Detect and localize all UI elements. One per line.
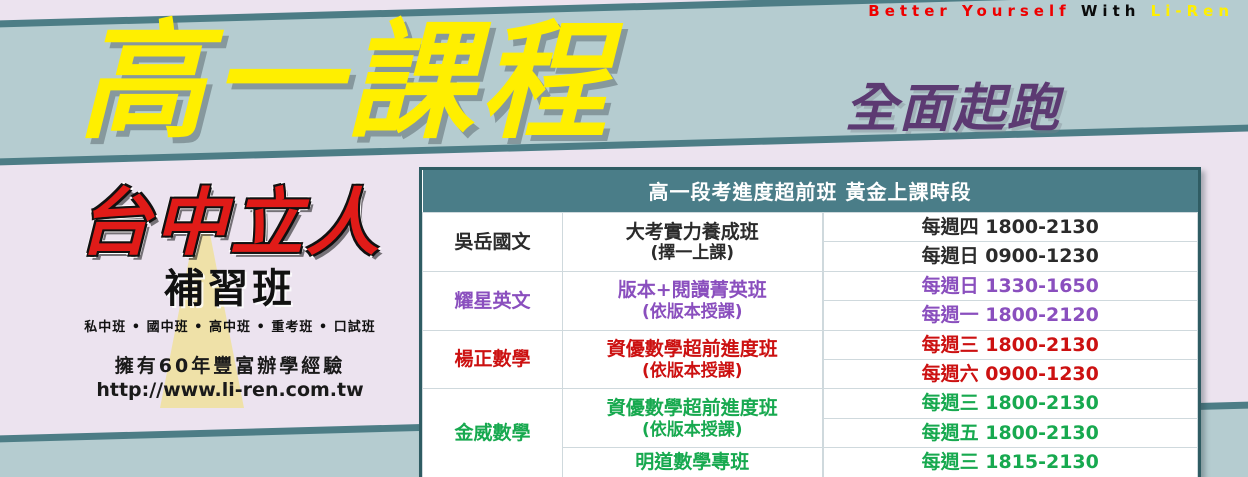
tagline-part-1: Better Yourself <box>868 2 1070 20</box>
table-row: 耀星英文版本+閱讀菁英班(依版本授課)每週日 1330-1650 <box>423 271 1198 300</box>
logo-name: 台中立人 <box>55 185 405 262</box>
course-cell: 大考實力養成班(擇一上課) <box>563 213 823 272</box>
time-cell: 每週日 1330-1650 <box>823 271 1198 300</box>
time-cell: 每週三 1815-2130 <box>823 448 1198 477</box>
logo-class-list: 私中班 • 國中班 • 高中班 • 重考班 • 口試班 <box>55 316 405 335</box>
poster-canvas: Better Yourself With Li-Ren 高一課程 全面起跑 台中… <box>0 0 1248 477</box>
tagline-part-2: With <box>1081 2 1141 20</box>
schedule-header: 高一段考進度超前班 黃金上課時段 <box>423 170 1198 213</box>
time-cell: 每週五 1800-2130 <box>823 418 1198 447</box>
course-cell-secondary: 明道數學專班 <box>563 448 823 477</box>
course-note: (依版本授課) <box>567 420 818 440</box>
course-cell: 資優數學超前進度班(依版本授課) <box>563 330 823 389</box>
logo-website-url[interactable]: http://www.li-ren.com.tw <box>55 379 405 401</box>
schedule-table-wrapper: 高一段考進度超前班 黃金上課時段 吳岳國文大考實力養成班(擇一上課)每週四 18… <box>419 167 1201 477</box>
page-title: 高一課程 <box>78 18 614 146</box>
course-cell: 版本+閱讀菁英班(依版本授課) <box>563 271 823 330</box>
time-cell: 每週三 1800-2130 <box>823 389 1198 418</box>
table-row: 金威數學資優數學超前進度班(依版本授課)每週三 1800-2130 <box>423 389 1198 418</box>
course-note: (依版本授課) <box>567 361 818 381</box>
teacher-cell: 耀星英文 <box>423 271 563 330</box>
time-cell: 每週一 1800-2120 <box>823 301 1198 330</box>
course-cell: 資優數學超前進度班(依版本授課) <box>563 389 823 448</box>
page-subtitle: 全面起跑 <box>845 66 1061 141</box>
time-cell: 每週三 1800-2130 <box>823 330 1198 359</box>
schedule-table: 高一段考進度超前班 黃金上課時段 吳岳國文大考實力養成班(擇一上課)每週四 18… <box>422 170 1198 477</box>
schedule-body: 吳岳國文大考實力養成班(擇一上課)每週四 1800-2130每週日 0900-1… <box>423 213 1198 477</box>
course-note: (依版本授課) <box>567 302 818 322</box>
logo-experience: 擁有60年豐富辦學經驗 <box>55 351 405 378</box>
teacher-cell: 楊正數學 <box>423 330 563 389</box>
teacher-cell: 金威數學 <box>423 389 563 477</box>
table-row: 楊正數學資優數學超前進度班(依版本授課)每週三 1800-2130 <box>423 330 1198 359</box>
teacher-cell: 吳岳國文 <box>423 213 563 272</box>
time-cell: 每週六 0900-1230 <box>823 360 1198 389</box>
tagline-part-3: Li-Ren <box>1151 2 1234 20</box>
brand-logo: 台中立人 補習班 私中班 • 國中班 • 高中班 • 重考班 • 口試班 擁有6… <box>55 185 405 401</box>
tagline: Better Yourself With Li-Ren <box>868 2 1234 20</box>
course-note: (擇一上課) <box>567 243 818 263</box>
time-cell: 每週日 0900-1230 <box>823 242 1198 271</box>
time-cell: 每週四 1800-2130 <box>823 213 1198 242</box>
table-row: 吳岳國文大考實力養成班(擇一上課)每週四 1800-2130 <box>423 213 1198 242</box>
